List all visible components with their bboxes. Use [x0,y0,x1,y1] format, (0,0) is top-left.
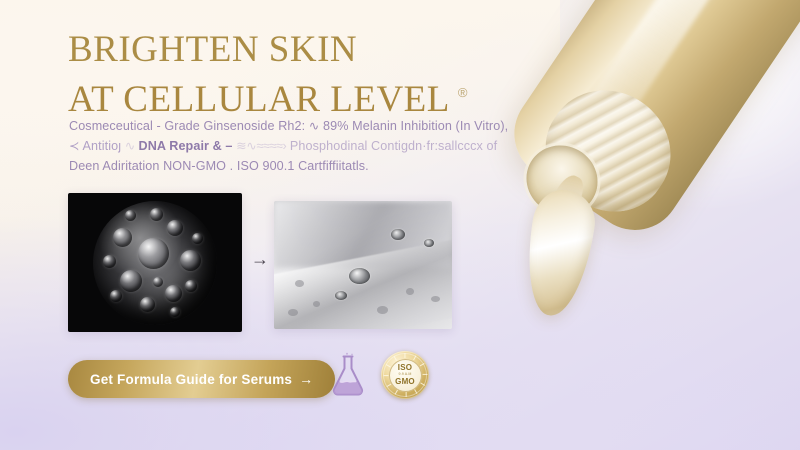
bottle-cap [638,0,800,48]
body-copy-line-3: Deen Adiritation NON-GMO . ISO 900.1 Car… [69,156,547,176]
serum-droplet [519,186,600,320]
registered-trademark-icon: ® [458,71,468,114]
headline-line-1: BRIGHTEN SKIN [68,28,538,71]
body-copy-line-2-squiggle: ∿ [125,139,135,153]
headline-block: BRIGHTEN SKIN AT CELLULAR LEVEL® [68,28,538,121]
seal-outer-ring [383,353,427,397]
cta-button[interactable]: Get Formula Guide for Serums → [68,360,335,398]
body-copy-line-2: ≺ Antitioȷ ∿ DNA Repair & – ≋∿≈≈≈≈› Phos… [69,136,547,156]
serum-stream [540,171,589,233]
certification-seal-badge: ISO 9.9 A.M GMO [381,351,429,399]
bottle-highlight [567,0,738,156]
body-copy-line-2-fragment-b: DNA Repair & – [139,139,233,153]
cta-label: Get Formula Guide for Serums [90,372,292,387]
cell-cluster-graphic [93,201,217,325]
flask-icon [327,352,369,398]
cta-arrow-icon: → [299,371,313,387]
bottle-neck [524,67,693,234]
headline-line-2-wrap: AT CELLULAR LEVEL® [68,71,538,121]
headline-line-2: AT CELLULAR LEVEL [68,79,450,120]
body-copy-line-2-fragment-c: Phosphodinal Contigdn·fr:sallcccx of [290,139,497,153]
micrograph-before [68,193,242,332]
micrograph-after [274,201,452,329]
body-copy-line-1: Cosmeceutical - Grade Ginsenoside Rh2: ∿… [69,116,547,136]
transition-arrow-icon: → [248,250,272,268]
advertisement-banner: BRIGHTEN SKIN AT CELLULAR LEVEL® Cosmece… [0,0,800,450]
body-copy-block: Cosmeceutical - Grade Ginsenoside Rh2: ∿… [69,116,547,176]
body-copy-line-2-garble: ≋∿≈≈≈≈› [236,139,286,153]
body-copy-line-2-fragment-a: ≺ Antitioȷ [69,139,121,153]
